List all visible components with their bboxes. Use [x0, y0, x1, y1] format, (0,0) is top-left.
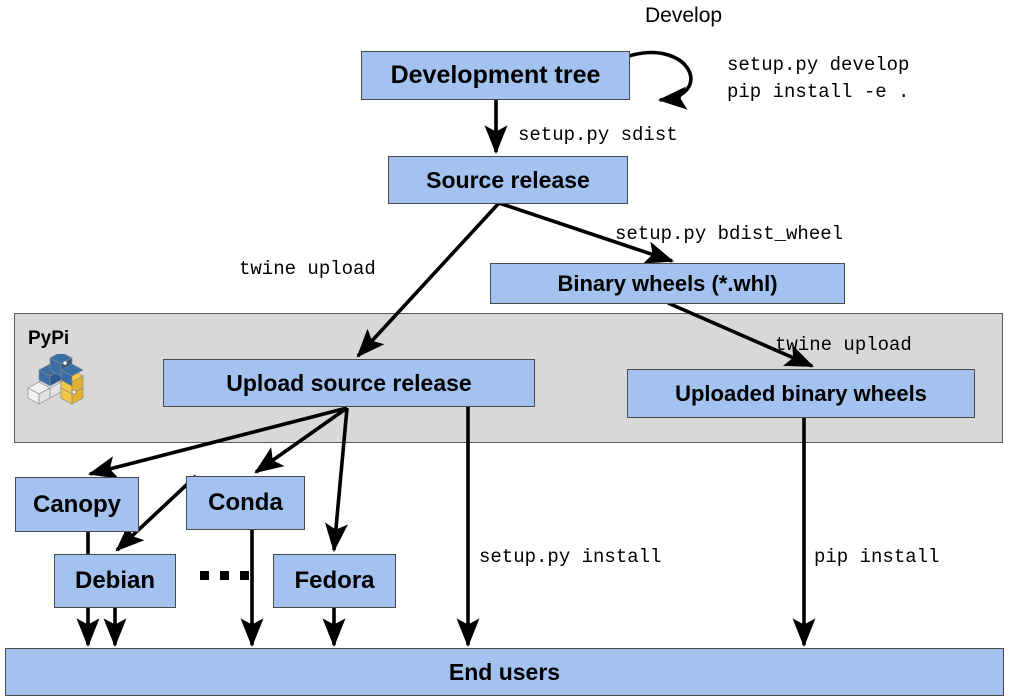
python-logo [24, 354, 92, 415]
pypi-group-label: PyPi [28, 328, 69, 350]
node-binary-wheels[interactable]: Binary wheels (*.whl) [490, 263, 845, 304]
ellipsis-more-distros [200, 571, 249, 580]
label-setup-py-install: setup.py install [479, 544, 661, 571]
label-setup-py-bdist-wheel: setup.py bdist_wheel [615, 221, 843, 248]
label-develop: Develop [645, 4, 722, 28]
label-setup-py-sdist: setup.py sdist [518, 122, 678, 149]
node-canopy[interactable]: Canopy [15, 477, 139, 532]
label-develop-commands: setup.py develop pip install -e . [727, 52, 909, 106]
node-uploaded-binary-wheels[interactable]: Uploaded binary wheels [627, 369, 975, 418]
label-pip-install: pip install [814, 544, 939, 571]
label-twine-upload-wheels: twine upload [775, 332, 912, 359]
node-source-release[interactable]: Source release [388, 156, 628, 204]
edge-develop-loop [629, 53, 691, 100]
node-development-tree[interactable]: Development tree [361, 51, 630, 100]
node-end-users[interactable]: End users [5, 648, 1004, 696]
label-twine-upload-source: twine upload [239, 256, 376, 283]
packaging-flow-diagram: PyPi [0, 0, 1009, 698]
node-upload-source-release[interactable]: Upload source release [163, 359, 535, 407]
node-conda[interactable]: Conda [186, 476, 305, 530]
node-fedora[interactable]: Fedora [273, 554, 396, 608]
node-debian[interactable]: Debian [54, 554, 176, 608]
